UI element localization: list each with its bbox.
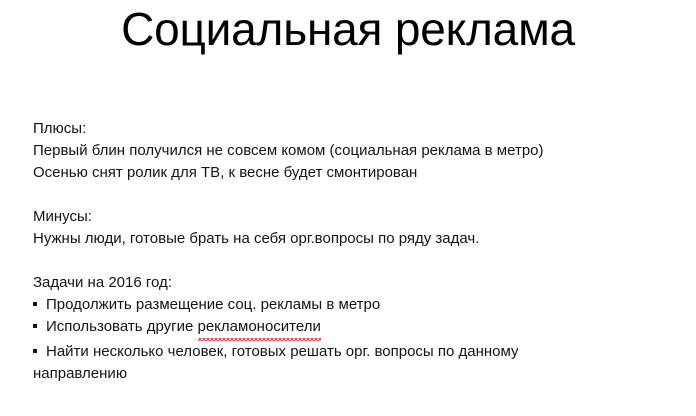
section-spacer-1 xyxy=(33,184,663,206)
list-item-wrapped-continuation: направлению xyxy=(33,363,663,385)
section-spacer-2 xyxy=(33,250,663,272)
slide-body: Плюсы: Первый блин получился не совсем к… xyxy=(33,118,663,385)
list-item: Продолжить размещение соц. рекламы в мет… xyxy=(33,294,663,316)
pros-line-1: Первый блин получился не совсем комом (с… xyxy=(33,140,663,162)
pros-heading: Плюсы: xyxy=(33,118,663,140)
list-item-label: Продолжить размещение соц. рекламы в мет… xyxy=(46,296,380,313)
cons-line-1: Нужны люди, готовые брать на себя орг.во… xyxy=(33,228,663,250)
pros-line-2: Осенью снят ролик для ТВ, к весне будет … xyxy=(33,162,663,184)
tasks-heading: Задачи на 2016 год: xyxy=(33,272,663,294)
square-bullet-icon xyxy=(33,349,37,353)
list-item-label: Использовать другие xyxy=(46,318,198,335)
page-title: Социальная реклама xyxy=(0,6,696,52)
cons-heading: Минусы: xyxy=(33,206,663,228)
square-bullet-icon xyxy=(33,302,37,306)
list-item: Использовать другие рекламоносители xyxy=(33,316,663,341)
square-bullet-icon xyxy=(33,324,37,328)
list-item-label: Найти несколько человек, готовых решать … xyxy=(46,343,519,360)
spellcheck-error-text: рекламоносители xyxy=(198,316,321,341)
slide-canvas: Социальная реклама Плюсы: Первый блин по… xyxy=(0,0,696,416)
list-item: Найти несколько человек, готовых решать … xyxy=(33,341,663,363)
